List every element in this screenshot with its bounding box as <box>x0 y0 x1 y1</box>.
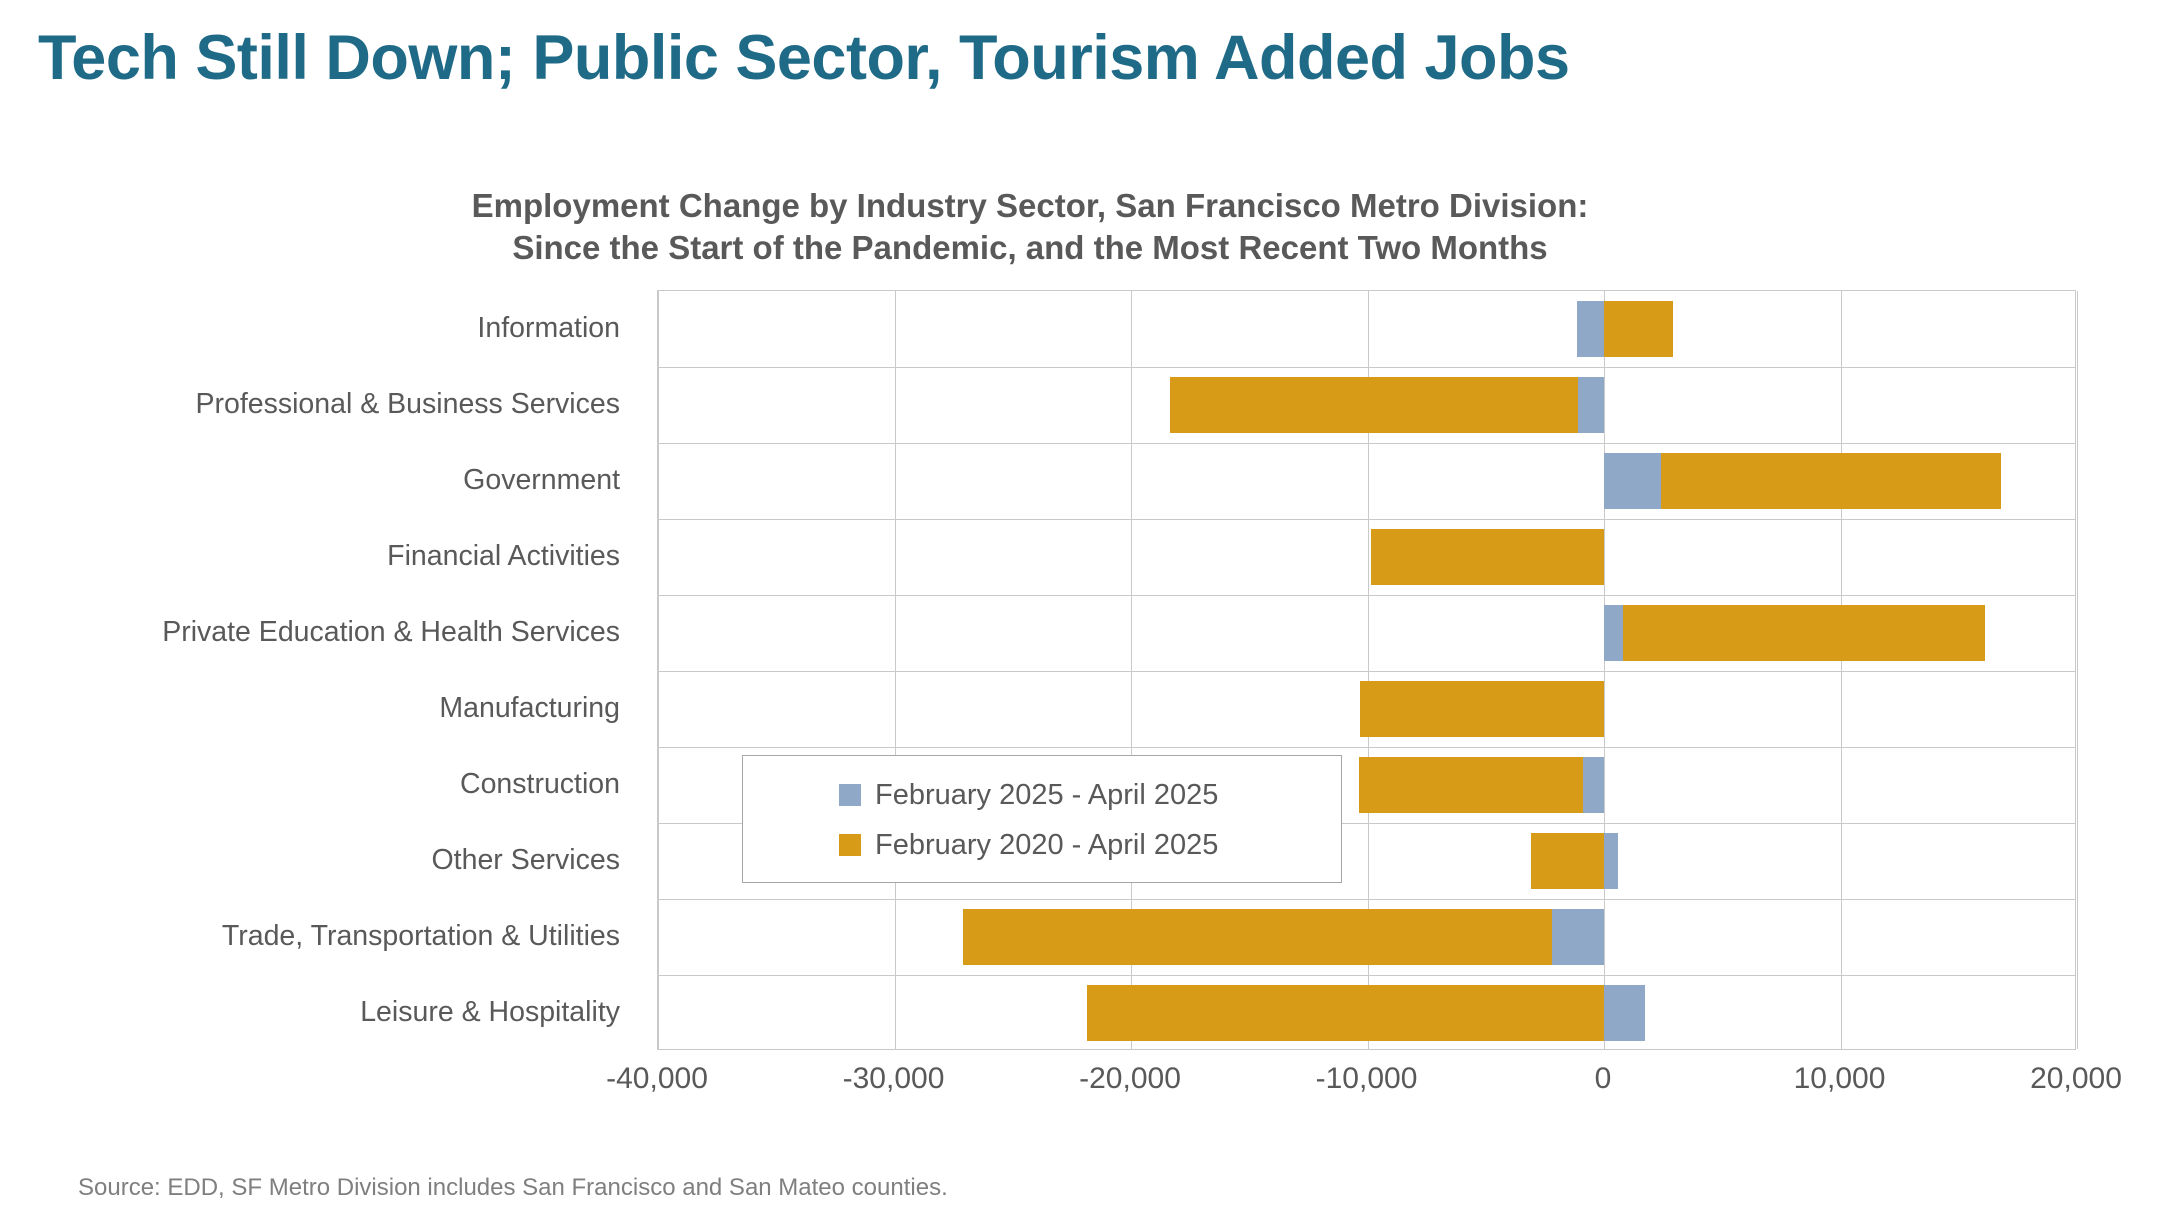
x-axis-tick-labels: -40,000-30,000-20,000-10,000010,00020,00… <box>657 1062 2076 1112</box>
chart-plot-area <box>657 290 2076 1050</box>
bar-segment-pandemic <box>1170 377 1578 433</box>
bar-segment-pandemic <box>1604 301 1673 357</box>
bar-segment-pandemic <box>1531 833 1604 889</box>
legend-swatch-icon <box>839 784 861 806</box>
chart-legend: February 2025 - April 2025February 2020 … <box>742 755 1342 883</box>
x-axis-tick-label: -30,000 <box>843 1062 945 1096</box>
bar-segment-pandemic <box>1661 453 2002 509</box>
y-axis-label: Manufacturing <box>0 670 638 746</box>
x-axis-tick-label: 0 <box>1595 1062 1612 1096</box>
y-axis-label: Other Services <box>0 822 638 898</box>
bar-segment-pandemic <box>1359 757 1582 813</box>
bar-segment-recent <box>1577 301 1604 357</box>
bar-row <box>658 899 2075 975</box>
legend-item[interactable]: February 2025 - April 2025 <box>839 770 1341 820</box>
x-axis-tick-label: -40,000 <box>606 1062 708 1096</box>
legend-label: February 2025 - April 2025 <box>875 779 1218 812</box>
bar-row <box>658 291 2075 367</box>
bar-row <box>658 671 2075 747</box>
y-axis-label: Construction <box>0 746 638 822</box>
y-axis-label: Trade, Transportation & Utilities <box>0 898 638 974</box>
bar-segment-recent <box>1578 377 1604 433</box>
legend-swatch-icon <box>839 834 861 856</box>
bar-row <box>658 443 2075 519</box>
bar-row <box>658 595 2075 671</box>
y-axis-label: Government <box>0 442 638 518</box>
x-axis-tick-label: -10,000 <box>1316 1062 1418 1096</box>
bar-segment-pandemic <box>1371 529 1604 585</box>
bar-segment-pandemic <box>1360 681 1604 737</box>
chart-subtitle-line-2: Since the Start of the Pandemic, and the… <box>0 227 2060 269</box>
bar-segment-pandemic <box>1087 985 1604 1041</box>
x-axis-tick-label: 20,000 <box>2030 1062 2122 1096</box>
source-note: Source: EDD, SF Metro Division includes … <box>78 1174 948 1202</box>
bar-segment-pandemic <box>963 909 1552 965</box>
y-axis-label: Private Education & Health Services <box>0 594 638 670</box>
y-axis-label: Information <box>0 290 638 366</box>
bar-segment-recent <box>1604 833 1618 889</box>
bar-segment-recent <box>1583 757 1604 813</box>
y-axis-category-labels: InformationProfessional & Business Servi… <box>0 290 638 1050</box>
y-axis-label: Financial Activities <box>0 518 638 594</box>
x-axis-tick-label: 10,000 <box>1794 1062 1886 1096</box>
bar-segment-recent <box>1604 453 1661 509</box>
legend-label: February 2020 - April 2025 <box>875 829 1218 862</box>
y-axis-label: Professional & Business Services <box>0 366 638 442</box>
legend-item[interactable]: February 2020 - April 2025 <box>839 820 1341 870</box>
bar-segment-recent <box>1552 909 1604 965</box>
gridline-vertical <box>2077 291 2078 1049</box>
bar-row <box>658 519 2075 595</box>
page-title: Tech Still Down; Public Sector, Tourism … <box>38 22 1570 94</box>
y-axis-label: Leisure & Hospitality <box>0 974 638 1050</box>
x-axis-tick-label: -20,000 <box>1079 1062 1181 1096</box>
chart-subtitle-line-1: Employment Change by Industry Sector, Sa… <box>0 185 2060 227</box>
chart-plot-wrapper: InformationProfessional & Business Servi… <box>0 290 2158 1090</box>
bar-row <box>658 367 2075 443</box>
bar-row <box>658 975 2075 1051</box>
bar-segment-recent <box>1604 605 1623 661</box>
bar-segment-recent <box>1604 985 1645 1041</box>
bar-segment-pandemic <box>1623 605 1985 661</box>
chart-subtitle: Employment Change by Industry Sector, Sa… <box>0 185 2060 269</box>
